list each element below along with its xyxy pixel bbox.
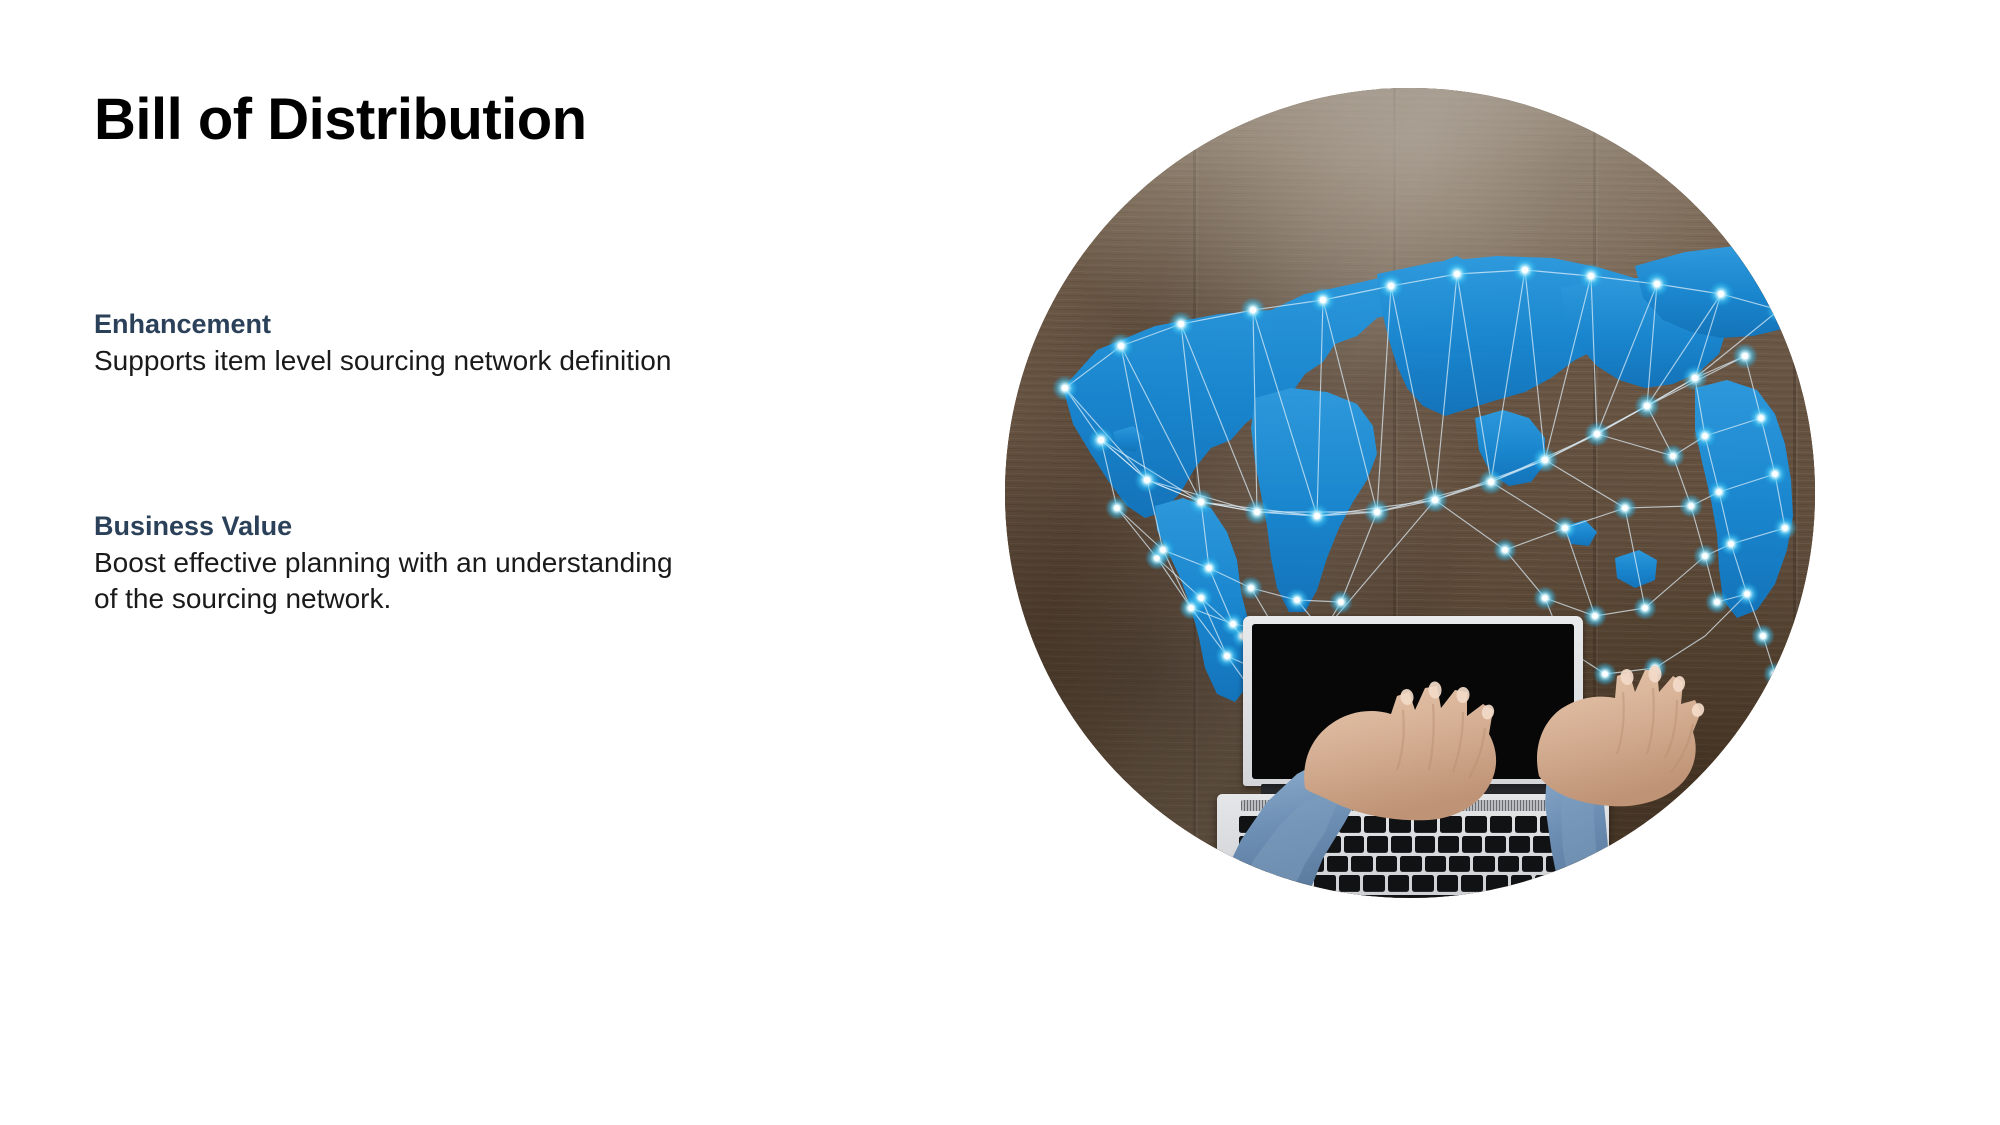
laptop-base [1217,794,1609,898]
business-value-body: Boost effective planning with an underst… [94,545,674,618]
keyboard-row [1239,856,1587,873]
global-sourcing-network-image [1005,88,1815,898]
laptop [1217,616,1609,898]
laptop-screen [1252,624,1574,779]
laptop-keyboard [1239,816,1587,898]
business-value-heading: Business Value [94,510,734,543]
keyboard-row [1239,836,1587,853]
keyboard-row [1239,895,1587,898]
laptop-speaker-grille [1241,800,1585,811]
enhancement-block: Enhancement Supports item level sourcing… [94,308,734,379]
page-title: Bill of Distribution [94,88,587,152]
keyboard-row [1239,875,1587,892]
enhancement-body: Supports item level sourcing network def… [94,343,674,379]
business-value-block: Business Value Boost effective planning … [94,510,734,618]
enhancement-heading: Enhancement [94,308,734,341]
laptop-lid [1243,616,1583,786]
keyboard-row [1239,816,1587,833]
